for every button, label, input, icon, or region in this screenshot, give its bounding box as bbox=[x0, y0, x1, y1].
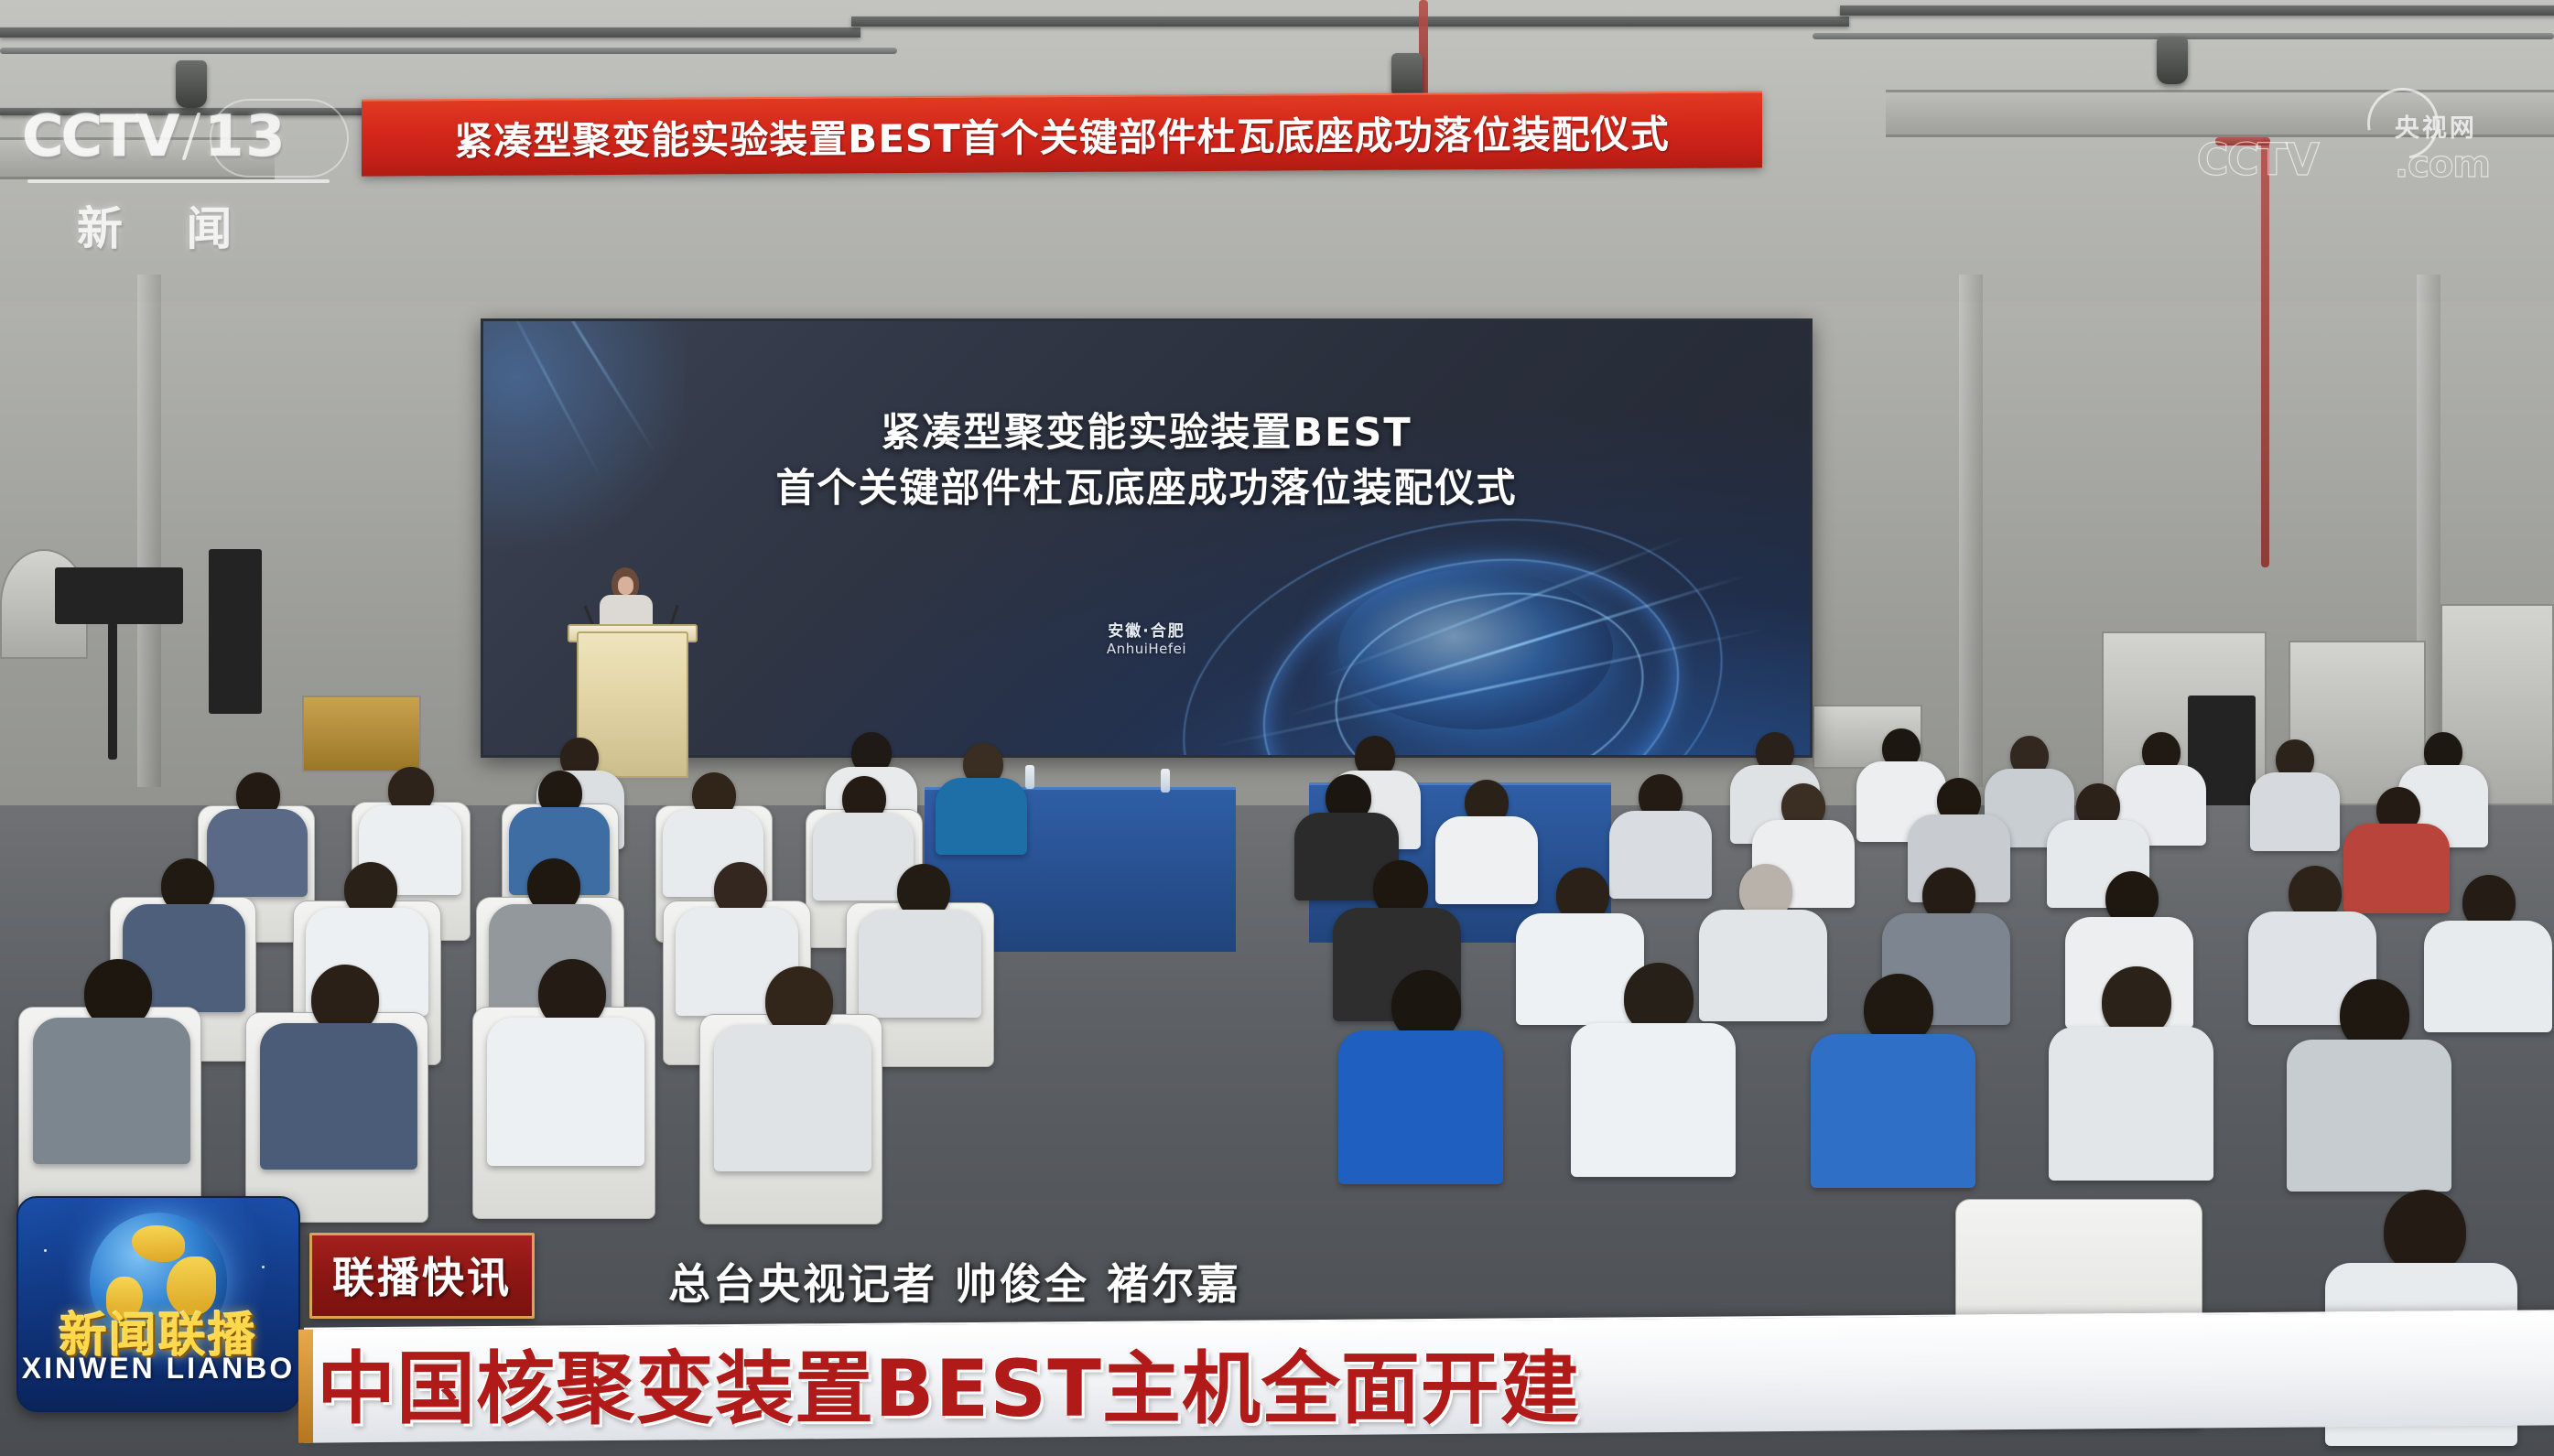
audience-body bbox=[1571, 1023, 1736, 1177]
overhead-banner-text: 紧凑型聚变能实验装置BEST首个关键部件杜瓦底座成功落位装配仪式 bbox=[454, 102, 1670, 166]
led-title-line2: 首个关键部件杜瓦底座成功落位装配仪式 bbox=[483, 461, 1810, 517]
watermark-cctv-text: CCTV bbox=[2197, 135, 2318, 186]
program-name-en: XINWEN LIANBO bbox=[18, 1352, 298, 1386]
equipment-crate bbox=[302, 696, 421, 772]
logo-capsule bbox=[210, 99, 349, 178]
audience-body bbox=[33, 1018, 190, 1164]
watermark-row: CCTV 央视网 .com bbox=[2197, 108, 2490, 186]
audience-body bbox=[2287, 1040, 2451, 1192]
ceiling-beam bbox=[0, 27, 860, 38]
water-bottle bbox=[1025, 765, 1034, 789]
star-dot bbox=[44, 1249, 47, 1252]
headline-text: 中国核聚变装置BEST主机全面开建 bbox=[317, 1324, 1580, 1439]
logo-slash-icon bbox=[182, 113, 201, 160]
audience-body bbox=[2343, 824, 2450, 913]
camera-body bbox=[55, 567, 183, 624]
audience-body bbox=[1609, 811, 1712, 899]
overhead-ceremony-banner: 紧凑型聚变能实验装置BEST首个关键部件杜瓦底座成功落位装配仪式 bbox=[362, 91, 1762, 176]
audience-body bbox=[1811, 1034, 1975, 1188]
logo-underline bbox=[27, 179, 330, 183]
ceiling-lamp bbox=[176, 60, 207, 108]
star-dot bbox=[262, 1266, 265, 1268]
audience-body bbox=[936, 778, 1027, 855]
speaker-face bbox=[618, 577, 633, 595]
audience-body bbox=[260, 1023, 417, 1170]
led-screen-title: 紧凑型聚变能实验装置BEST 首个关键部件杜瓦底座成功落位装配仪式 bbox=[483, 405, 1810, 517]
headline-accent-stripe bbox=[298, 1330, 313, 1443]
ceiling-beam bbox=[1840, 5, 2554, 16]
logo-cctv-label: CCTV bbox=[22, 102, 177, 169]
cctv-com-watermark: CCTV 央视网 .com bbox=[2197, 108, 2490, 186]
audience-body bbox=[2250, 772, 2340, 851]
segment-tag-badge: 联播快讯 bbox=[309, 1233, 535, 1319]
audience-body bbox=[1435, 816, 1538, 904]
ceiling-pipe bbox=[0, 48, 897, 54]
logo-channel-name: 新 闻 bbox=[77, 192, 255, 258]
ceiling-lamp bbox=[2157, 37, 2188, 84]
audience-body bbox=[714, 1025, 871, 1171]
led-title-line1: 紧凑型聚变能实验装置BEST bbox=[483, 405, 1810, 461]
segment-tag-text: 联播快讯 bbox=[332, 1253, 512, 1302]
wall-column bbox=[137, 275, 161, 787]
audience-body bbox=[2049, 1027, 2213, 1181]
audience-body bbox=[1338, 1030, 1503, 1184]
audience-body bbox=[207, 809, 308, 897]
audience-body bbox=[487, 1018, 644, 1166]
reporter-credit: 总台央视记者 帅俊全 褚尔嘉 bbox=[668, 1251, 1241, 1311]
water-bottle bbox=[1161, 769, 1170, 793]
wall-column bbox=[1959, 275, 1983, 787]
headline-bar: 中国核聚变装置BEST主机全面开建 bbox=[304, 1310, 2554, 1442]
audience-body bbox=[859, 910, 981, 1018]
camera-tripod bbox=[108, 622, 117, 760]
speaker-stack bbox=[209, 549, 262, 714]
ceiling-beam bbox=[851, 16, 1849, 27]
audience-body bbox=[2424, 921, 2552, 1032]
xinwen-lianbo-logo: 新闻联播 XINWEN LIANBO bbox=[16, 1196, 300, 1412]
cctv13-channel-logo: CCTV 13 新 闻 bbox=[22, 102, 352, 258]
audience-body bbox=[1699, 910, 1827, 1021]
broadcast-screenshot: 紧凑型聚变能实验装置BEST首个关键部件杜瓦底座成功落位装配仪式 紧凑型聚变能实… bbox=[0, 0, 2554, 1456]
fire-pipe bbox=[2261, 137, 2269, 567]
continent-shape bbox=[132, 1225, 185, 1262]
lower-third-graphics: 新闻联播 XINWEN LIANBO 联播快讯 总台央视记者 帅俊全 褚尔嘉 中… bbox=[0, 1181, 2554, 1456]
